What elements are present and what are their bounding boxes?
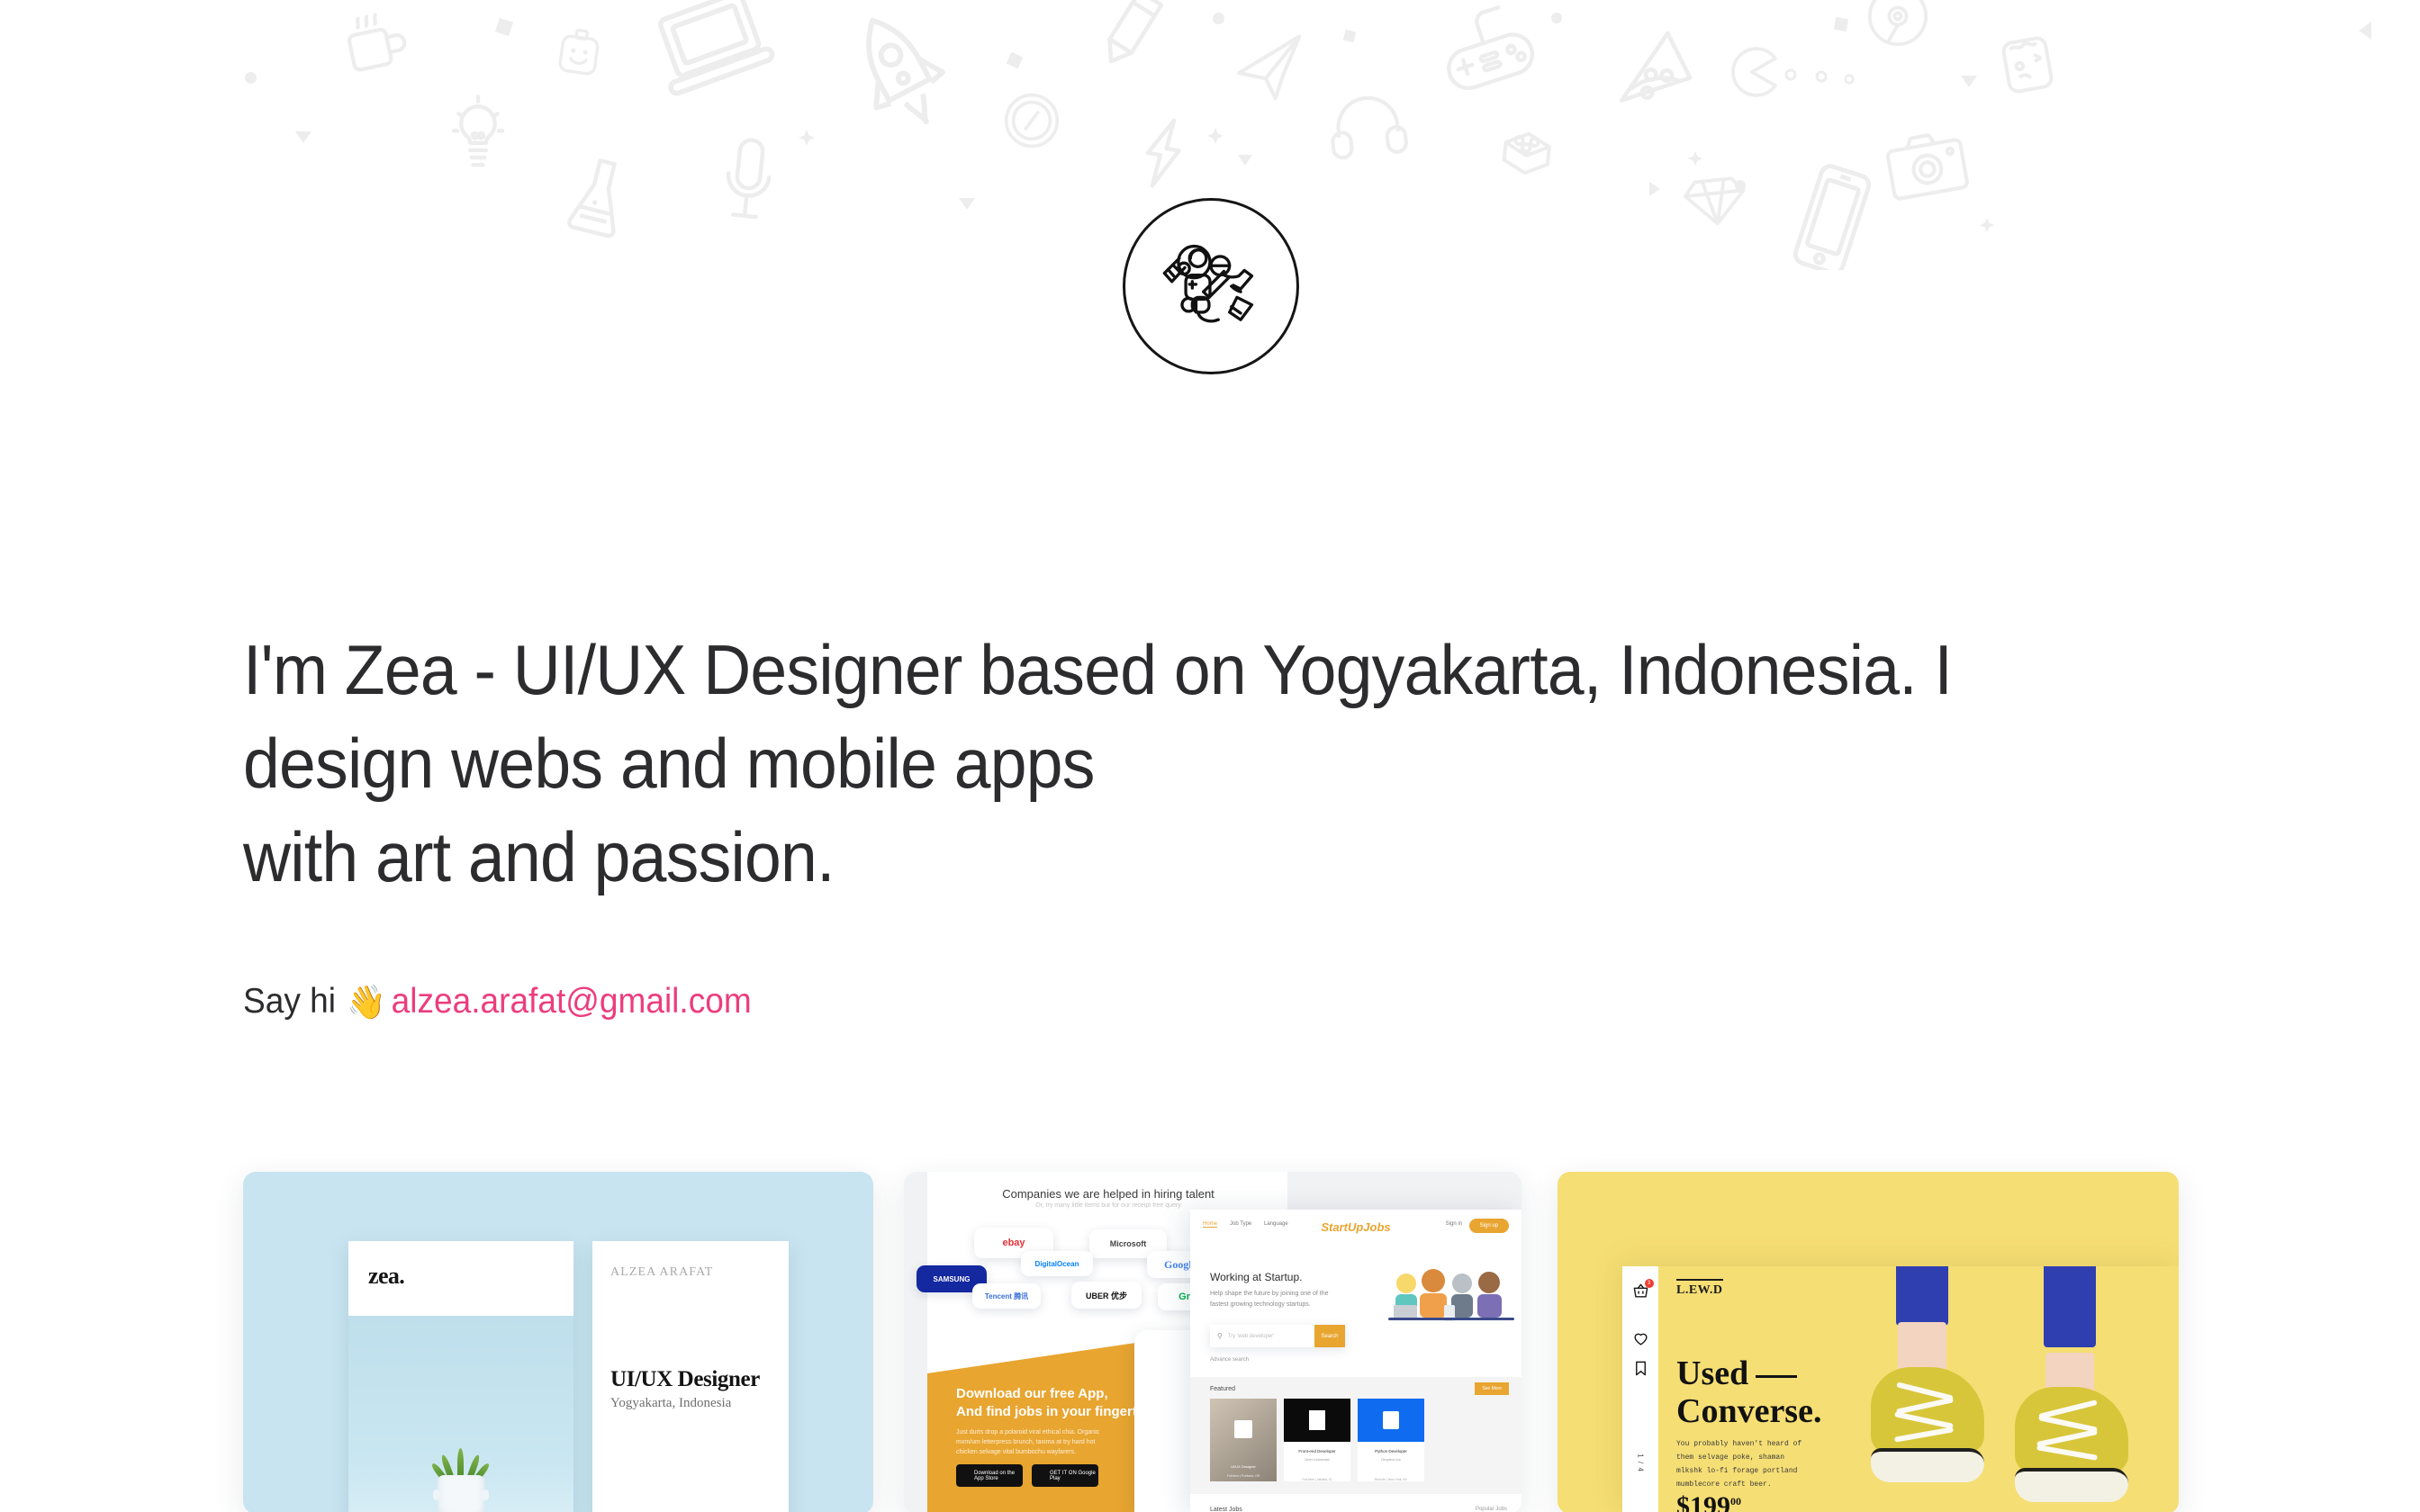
- job-company: Dropbox Inc: [1358, 1457, 1424, 1462]
- site-navbar: Home Job Type Language StartUpJobs Sign …: [1190, 1210, 1522, 1244]
- laptop-icon: [638, 0, 784, 111]
- dot-icon: [1735, 180, 1746, 191]
- right-shoe: [2015, 1387, 2128, 1502]
- job-meta: Remote | New York, NY: [1358, 1478, 1424, 1481]
- job-meta: Full-time | Jakarta, ID: [1284, 1478, 1350, 1481]
- dot-icon: [1844, 74, 1855, 85]
- gamepad-icon: [1426, 0, 1547, 110]
- project-card-row: zea. ALZEA ARAFAT UI/UX Designer Yogyaka…: [0, 1172, 2420, 1512]
- flask-icon: [559, 147, 638, 247]
- owner-location: Yogyakarta, Indonesia: [610, 1396, 731, 1411]
- job-title: Front-end Developer: [1284, 1449, 1350, 1453]
- sign-up-button[interactable]: Sign up: [1469, 1219, 1509, 1233]
- monster-face-icon: [1990, 25, 2065, 103]
- pizza-icon: [1612, 20, 1705, 121]
- logo-tencent: Tencent 腾讯: [972, 1283, 1041, 1309]
- triangle-icon: [1649, 182, 1660, 196]
- paper-plane-icon: [1229, 31, 1313, 106]
- search-icon: ⚲: [1217, 1332, 1223, 1340]
- coffee-mug-icon: [336, 4, 420, 88]
- job-card[interactable]: Python Developer Dropbox Inc Remote | Ne…: [1358, 1399, 1424, 1481]
- triangle-icon: [1961, 76, 1977, 87]
- star-icon: [1685, 149, 1705, 169]
- project-card-startupjobs[interactable]: Companies we are helped in hiring talent…: [904, 1172, 1522, 1512]
- heart-icon[interactable]: [1632, 1330, 1649, 1347]
- product-description: You probably haven't heard of them selva…: [1676, 1437, 1811, 1491]
- nav-job-type[interactable]: Job Type: [1230, 1221, 1251, 1227]
- compass-icon: [1001, 90, 1062, 151]
- logo-circle-border: [1123, 198, 1299, 374]
- job-card[interactable]: Front-end Developer Uber Indonesia Full-…: [1284, 1399, 1350, 1481]
- download-heading-line2: And find jobs in your fingertips!: [956, 1404, 1160, 1419]
- square-icon: [1834, 17, 1848, 31]
- dot-icon: [1784, 68, 1797, 81]
- dot-icon: [245, 72, 257, 84]
- app-store-button[interactable]: Download on the App Store: [956, 1464, 1023, 1487]
- download-body-text: Just durts drop a polaroid viral ethical…: [956, 1427, 1114, 1457]
- product-price: $19900: [1676, 1491, 1741, 1512]
- site-logo[interactable]: [1123, 198, 1299, 374]
- shop-brand-logo: L.EW.D: [1676, 1279, 1723, 1298]
- business-card-back: ALZEA ARAFAT UI/UX Designer Yogyakarta, …: [592, 1241, 789, 1512]
- ecommerce-product-page: 3 1 / 4 L.EW.D: [1622, 1266, 2179, 1512]
- search-input[interactable]: Try 'web developer': [1228, 1334, 1274, 1339]
- dot-icon: [1213, 13, 1224, 24]
- plant-photo-zone: [348, 1316, 573, 1512]
- job-title: Python Developer: [1358, 1449, 1424, 1453]
- nav-language[interactable]: Language: [1264, 1221, 1288, 1227]
- left-leg: [1896, 1266, 1948, 1326]
- owner-name: ALZEA ARAFAT: [610, 1265, 713, 1280]
- side-action-rail: 3 1 / 4: [1622, 1266, 1658, 1512]
- startupjobs-site-mock: Home Job Type Language StartUpJobs Sign …: [1190, 1210, 1522, 1512]
- job-thumbnail: UI/UX Designer Full-time | Portland, OR: [1210, 1399, 1277, 1481]
- business-card-front: zea.: [348, 1241, 573, 1512]
- see-more-button[interactable]: See More: [1475, 1382, 1509, 1395]
- job-search-bar[interactable]: ⚲ Try 'web developer' Search: [1210, 1325, 1345, 1347]
- product-title-line1: Used: [1676, 1354, 1748, 1392]
- pencil-icon: [1081, 0, 1181, 83]
- job-meta: Full-time | Portland, OR: [1215, 1474, 1271, 1478]
- title-rule: [1756, 1375, 1797, 1378]
- people-group-illustration: [1388, 1269, 1514, 1321]
- triangle-icon: [1238, 155, 1252, 166]
- hiring-subheading: Or, try many little items but for our re…: [960, 1202, 1257, 1209]
- job-title: UI/UX Designer: [1215, 1464, 1271, 1469]
- square-icon: [1007, 52, 1023, 68]
- cd-disc-icon: [1865, 0, 1930, 49]
- camera-icon: [1880, 121, 1974, 209]
- lightbulb-icon: [448, 92, 508, 175]
- star-icon: [1205, 126, 1226, 148]
- bookmark-icon[interactable]: [1632, 1360, 1649, 1377]
- cart-count-badge: 3: [1645, 1279, 1654, 1288]
- job-card[interactable]: UI/UX Designer Full-time | Portland, OR: [1210, 1399, 1277, 1481]
- project-card-lewd-shop[interactable]: 3 1 / 4 L.EW.D: [1558, 1172, 2179, 1512]
- left-shoe: [1871, 1367, 1984, 1482]
- pacman-icon: [1727, 47, 1777, 97]
- product-photo: [1855, 1266, 2179, 1512]
- featured-label: Featured: [1210, 1386, 1235, 1392]
- dot-icon: [1551, 13, 1562, 23]
- logo-uber: UBER 优步: [1071, 1282, 1142, 1309]
- hero-subtitle: Help shape the future by joining one of …: [1210, 1289, 1345, 1310]
- shopping-basket-icon[interactable]: 3: [1632, 1282, 1649, 1300]
- lego-brick-icon: [1494, 118, 1561, 185]
- team-illustration: [1388, 1269, 1514, 1321]
- portfolio-landing-page: I'm Zea - UI/UX Designer based on Yogyak…: [0, 0, 2420, 1512]
- astronaut-icon: [1155, 230, 1267, 342]
- microphone-icon: [715, 129, 781, 235]
- square-icon: [1343, 30, 1357, 43]
- product-title-line2: Converse.: [1676, 1392, 1821, 1430]
- star-icon: [796, 128, 817, 149]
- triangle-icon: [295, 131, 312, 143]
- slide-pager: 1 / 4: [1637, 1453, 1645, 1472]
- sign-in-link[interactable]: Sign in: [1446, 1221, 1462, 1227]
- succulent-plant: [436, 1443, 486, 1479]
- product-title: Used Converse.: [1676, 1354, 1838, 1430]
- startupjobs-logo: StartUpJobs: [1321, 1220, 1390, 1234]
- download-heading-line1: Download our free App,: [956, 1386, 1108, 1401]
- triangle-icon: [2359, 22, 2371, 40]
- latest-jobs-label: Latest Jobs: [1210, 1507, 1242, 1512]
- dot-icon: [1815, 70, 1828, 83]
- contact-line: Say hi 👋 alzea.arafat@gmail.com: [243, 981, 752, 1022]
- lego-head-icon: [547, 22, 611, 88]
- brand-logo-text: zea.: [368, 1263, 404, 1290]
- smartphone-icon: [1784, 155, 1880, 270]
- hiring-heading: Companies we are helped in hiring talent: [960, 1187, 1257, 1201]
- job-company: Uber Indonesia: [1284, 1457, 1350, 1462]
- square-icon: [495, 18, 513, 36]
- price-amount: $199: [1676, 1491, 1730, 1512]
- lightning-bolt-icon: [1133, 112, 1193, 194]
- google-play-button[interactable]: GET IT ON Google Play: [1032, 1464, 1098, 1487]
- search-button[interactable]: Search: [1314, 1325, 1345, 1347]
- diamond-icon: [1681, 166, 1750, 234]
- plant-pot: [438, 1475, 484, 1512]
- owner-role: UI/UX Designer: [610, 1367, 760, 1392]
- headphones-icon: [1325, 83, 1410, 166]
- project-card-branding[interactable]: zea. ALZEA ARAFAT UI/UX Designer Yogyaka…: [243, 1172, 873, 1512]
- waving-hand-icon: 👋: [347, 985, 386, 1019]
- nav-home[interactable]: Home: [1203, 1221, 1217, 1228]
- email-link[interactable]: alzea.arafat@gmail.com: [392, 981, 752, 1022]
- price-cents: 00: [1730, 1495, 1741, 1507]
- say-hi-label: Say hi: [243, 981, 345, 1022]
- page-title: I'm Zea - UI/UX Designer based on Yogyak…: [243, 623, 2020, 904]
- right-leg: [2044, 1266, 2096, 1347]
- hero-title: Working at Startup.: [1210, 1271, 1303, 1283]
- star-icon: [1977, 216, 1997, 236]
- advance-search-toggle[interactable]: Advance search: [1210, 1357, 1249, 1363]
- rocket-icon: [830, 0, 968, 148]
- logo-digitalocean: DigitalOcean: [1021, 1251, 1093, 1276]
- triangle-icon: [959, 198, 975, 210]
- popular-jobs-filter[interactable]: Popular Jobs: [1476, 1507, 1507, 1512]
